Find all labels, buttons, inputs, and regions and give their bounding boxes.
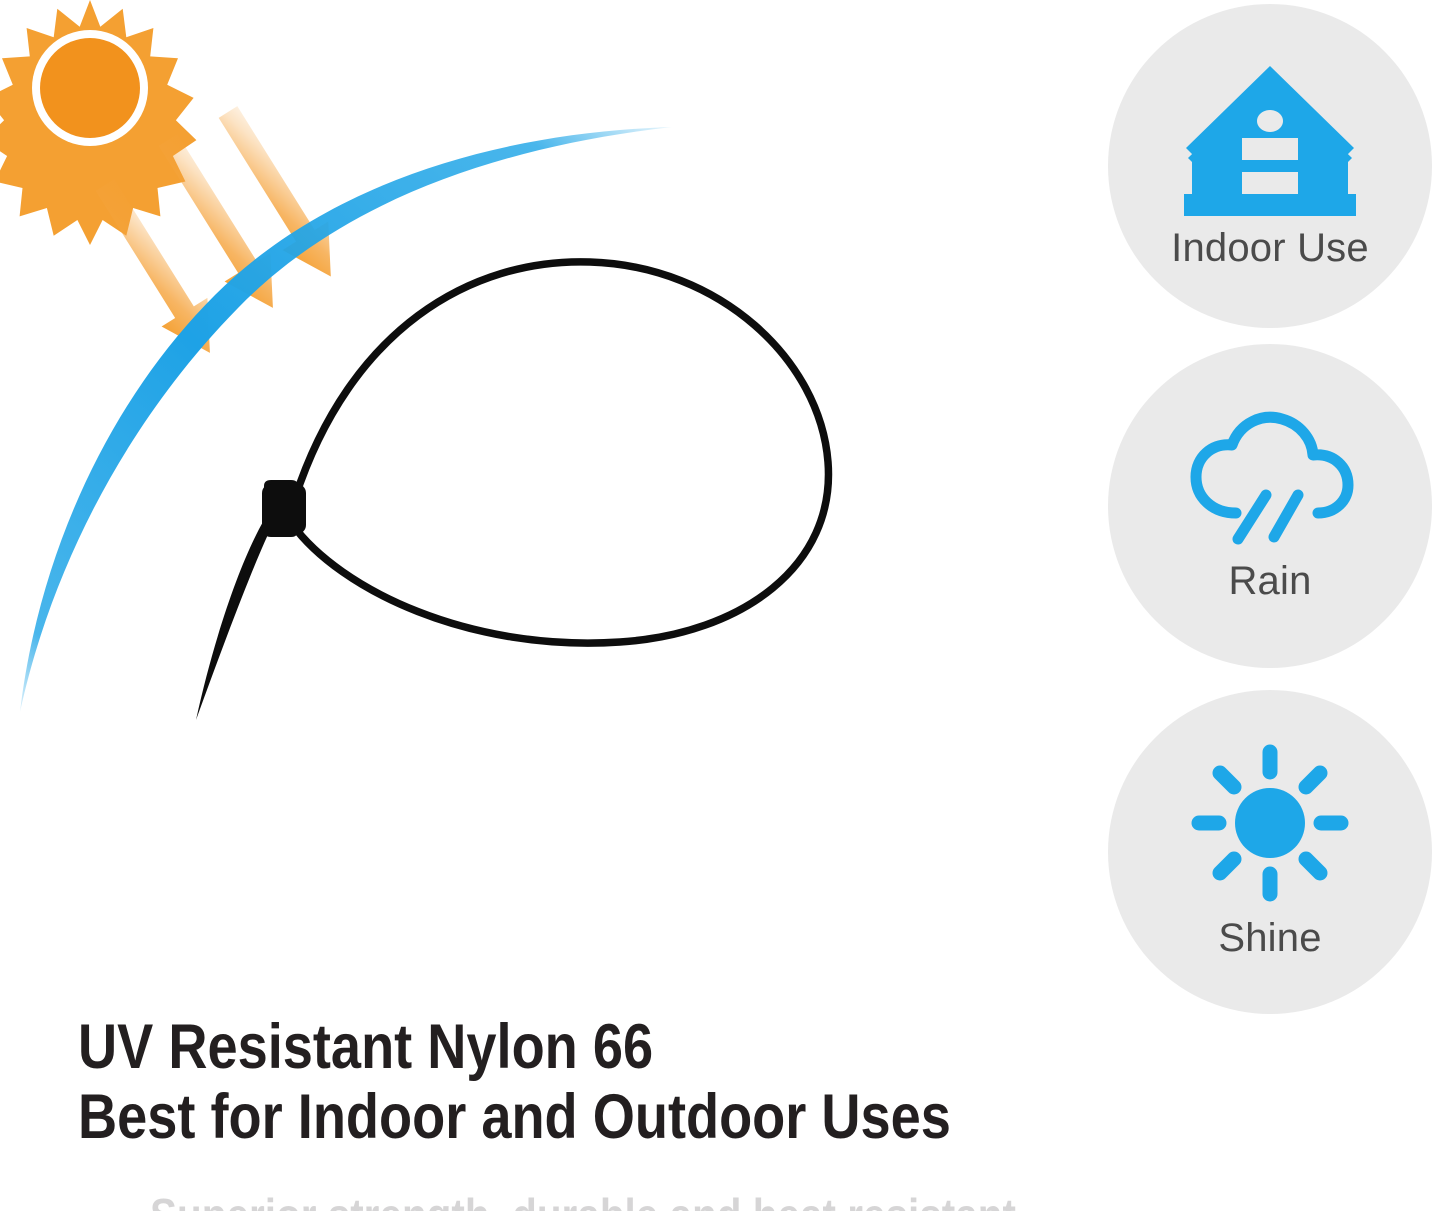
badge-rain[interactable]: Rain (1108, 344, 1432, 668)
badge-label-indoor-use: Indoor Use (1171, 226, 1369, 271)
headline-block: UV Resistant Nylon 66 Best for Indoor an… (78, 1012, 1078, 1152)
cloud-rain-icon (1182, 409, 1358, 549)
feature-badge-list: Indoor Use Rain (1108, 0, 1432, 1020)
bottom-caption: Superior strength, durable and heat resi… (150, 1190, 1150, 1211)
sun-burst-icon (0, 0, 196, 245)
cable-tie-product (196, 262, 828, 720)
bottom-caption-text: Superior strength, durable and heat resi… (150, 1190, 1030, 1211)
badge-indoor-use[interactable]: Indoor Use (1108, 4, 1432, 328)
badge-label-rain: Rain (1228, 559, 1311, 604)
headline-line-2: Best for Indoor and Outdoor Uses (78, 1082, 938, 1152)
product-infographic: Indoor Use Rain (0, 0, 1432, 1211)
badge-label-shine: Shine (1218, 916, 1321, 961)
headline-line-1: UV Resistant Nylon 66 (78, 1012, 938, 1082)
uv-protection-illustration (0, 0, 1060, 980)
house-icon (1180, 62, 1360, 224)
sun-shine-icon (1190, 744, 1350, 902)
badge-shine[interactable]: Shine (1108, 690, 1432, 1014)
